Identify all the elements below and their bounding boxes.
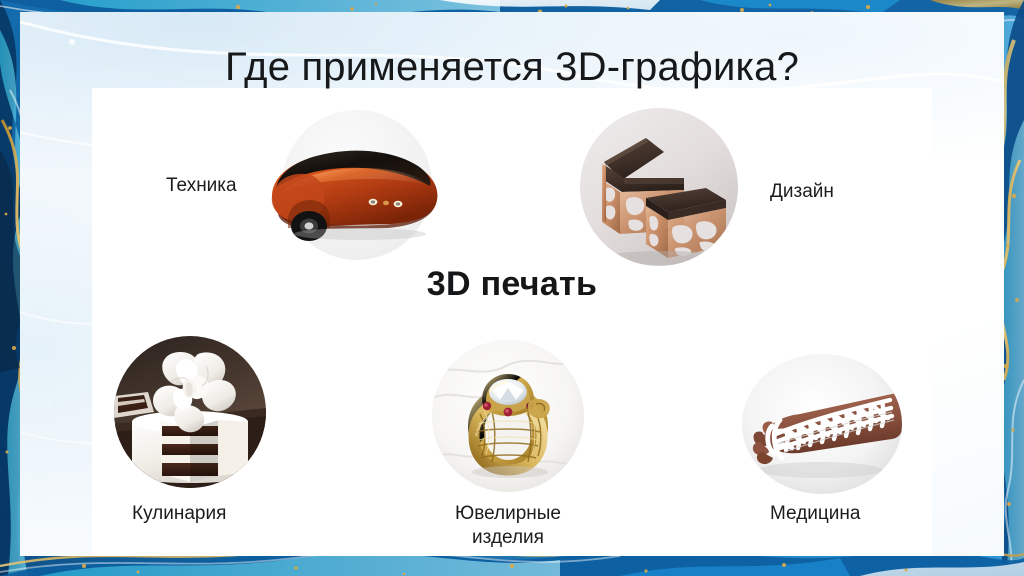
item-label-yuvelirnye-line1: Ювелирные: [455, 503, 561, 524]
item-label-kulinariya: Кулинария: [132, 502, 226, 526]
cake-photo: [114, 336, 266, 488]
medical-cast-photo: [742, 354, 902, 494]
center-heading: 3D печать: [92, 264, 932, 304]
content-card: 3D печать: [92, 88, 932, 556]
ring-photo: [432, 340, 584, 492]
car-photo: [282, 110, 432, 260]
item-label-yuvelirnye-line2: изделия: [472, 527, 544, 548]
item-label-tehnika: Техника: [166, 174, 237, 198]
item-label-dizayn: Дизайн: [770, 180, 834, 204]
item-label-meditsina: Медицина: [770, 502, 860, 526]
presentation-slide: Где применяется 3D-графика? 3D печать: [0, 0, 1024, 576]
page-title: Где применяется 3D-графика?: [0, 44, 1024, 90]
furniture-photo: [580, 108, 738, 266]
item-label-yuvelirnye: Ювелирные изделия: [422, 502, 594, 550]
